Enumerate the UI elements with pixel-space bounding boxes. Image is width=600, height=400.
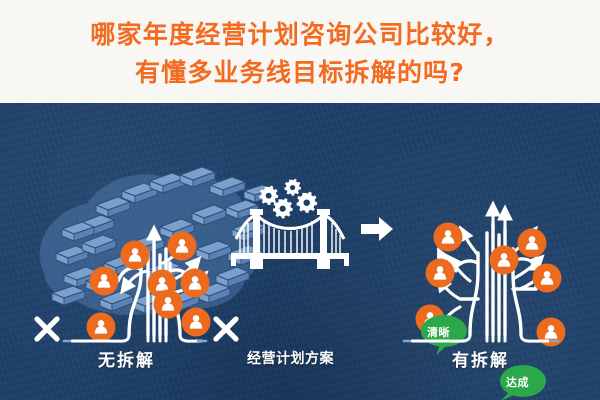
caption-no-breakdown: 无拆解: [98, 346, 155, 371]
cross-mark-left: [37, 319, 57, 339]
badge-achieve-label: 达成: [506, 374, 529, 390]
badge-clear-label: 清晰: [427, 324, 450, 340]
header-banner: 哪家年度经营计划咨询公司比较好， 有懂多业务线目标拆解的吗?: [0, 0, 600, 103]
illustration-stage: 无拆解 有拆解 经营计划方案 清晰 达成: [0, 103, 600, 400]
title-line-2: 有懂多业务线目标拆解的吗?: [135, 54, 465, 92]
cross-mark-right: [216, 319, 236, 339]
poster-root: 哪家年度经营计划咨询公司比较好， 有懂多业务线目标拆解的吗?: [0, 0, 600, 400]
gear-cluster-icon: [259, 179, 317, 219]
caption-with-breakdown: 有拆解: [452, 346, 509, 371]
bridge-label: 经营计划方案: [247, 348, 334, 368]
title-line-1: 哪家年度经营计划咨询公司比较好，: [90, 16, 509, 54]
arrow-right-icon: [361, 217, 393, 241]
